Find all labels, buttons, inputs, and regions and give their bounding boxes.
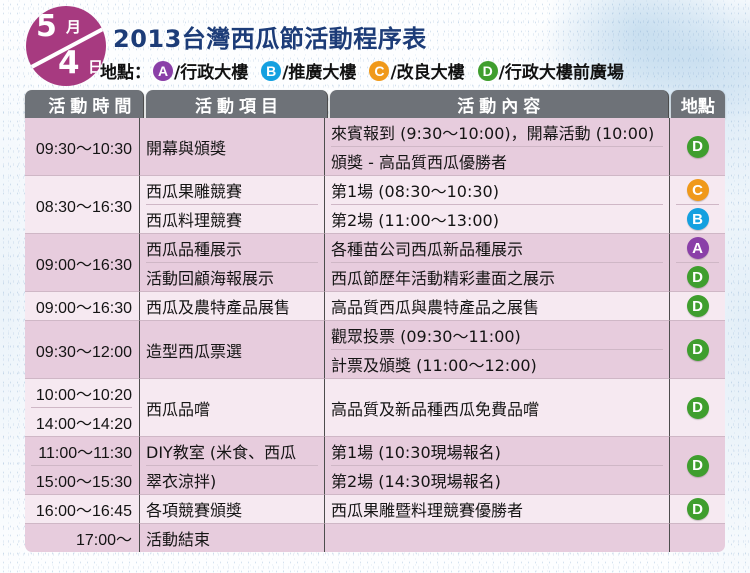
legend-badge-b-icon: B [261, 61, 281, 81]
cell-location-line: C [676, 176, 719, 205]
cell-location: D [670, 321, 725, 379]
legend-text-d: /行政大樓前廣場 [499, 58, 624, 83]
cell-item-line: 西瓜果雕競賽 [146, 176, 318, 205]
table-row: 09:00～16:30西瓜品種展示活動回顧海報展示各種苗公司西瓜新品種展示西瓜節… [25, 234, 725, 292]
cell-location: CB [670, 176, 725, 234]
cell-content-line: 各種苗公司西瓜新品種展示 [331, 234, 663, 263]
cell-content-line: 觀眾投票 (09:30～11:00) [331, 321, 663, 350]
cell-item: 西瓜果雕競賽西瓜料理競賽 [140, 176, 325, 234]
table-row: 16:00～16:45各項競賽頒獎西瓜果雕暨料理競賽優勝者D [25, 495, 725, 524]
venue-badge-d-icon: D [687, 455, 709, 477]
venue-badge-c-icon: C [687, 179, 709, 201]
cell-location: D [670, 292, 725, 321]
legend-text-a: /行政大樓 [174, 58, 248, 83]
cell-time-line: 11:00～11:30 [31, 437, 132, 466]
venue-badge-d-icon: D [687, 339, 709, 361]
column-header-content: 活動內容 [330, 90, 669, 118]
cell-item-lines: 西瓜果雕競賽西瓜料理競賽 [146, 176, 318, 233]
table-header-row: 活動時間 活動項目 活動內容 地點 [25, 90, 725, 118]
cell-item: 各項競賽頒獎 [140, 495, 325, 524]
cell-time-line: 10:00～10:20 [31, 379, 132, 408]
venue-legend: 地點： A /行政大樓 B /推廣大樓 C /改良大樓 D /行政大樓前廣場 [100, 58, 637, 83]
table-row: 17:00～活動結束 [25, 524, 725, 552]
table-row: 09:30～10:30開幕與頒獎來賓報到 (9:30～10:00)，開幕活動 (… [25, 118, 725, 176]
venue-legend-label: 地點： [100, 58, 151, 83]
legend-text-c: /改良大樓 [390, 58, 464, 83]
cell-content: 第1場 (08:30～10:30)第2場 (11:00～13:00) [325, 176, 670, 234]
venue-badge-d-icon: D [687, 397, 709, 419]
cell-content-line: 第1場 (10:30現場報名) [331, 437, 663, 466]
legend-item-a: A /行政大樓 [153, 58, 248, 83]
cell-time-line: 14:00～14:20 [31, 408, 132, 436]
cell-item: 西瓜及農特產品展售 [140, 292, 325, 321]
cell-time-lines: 11:00～11:3015:00～15:30 [31, 437, 132, 494]
legend-badge-c-icon: C [369, 61, 389, 81]
page-title: 2013台灣西瓜節活動程序表 [113, 19, 427, 54]
cell-time: 09:00～16:30 [25, 292, 140, 321]
cell-item-line: 活動回顧海報展示 [146, 263, 318, 291]
legend-text-b: /推廣大樓 [282, 58, 356, 83]
column-header-item: 活動項目 [146, 90, 327, 118]
cell-item-line: 西瓜料理競賽 [146, 205, 318, 233]
cell-time: 09:30～12:00 [25, 321, 140, 379]
cell-content: 來賓報到 (9:30～10:00)，開幕活動 (10:00)頒獎 - 高品質西瓜… [325, 118, 670, 176]
cell-location: D [670, 437, 725, 495]
venue-badge-b-icon: B [687, 208, 709, 230]
cell-content-lines: 第1場 (10:30現場報名)第2場 (14:30現場報名) [331, 437, 663, 494]
cell-time-line: 15:00～15:30 [31, 466, 132, 494]
page-header: 5 月 4 日 2013台灣西瓜節活動程序表 地點： A /行政大樓 B /推廣… [0, 0, 750, 90]
cell-time-lines: 10:00～10:2014:00～14:20 [31, 379, 132, 436]
cell-location: D [670, 118, 725, 176]
table-row: 09:30～12:00造型西瓜票選觀眾投票 (09:30～11:00)計票及頒獎… [25, 321, 725, 379]
date-badge: 5 月 4 日 [26, 6, 106, 86]
table-body: 09:30～10:30開幕與頒獎來賓報到 (9:30～10:00)，開幕活動 (… [25, 118, 725, 552]
cell-content-line: 第1場 (08:30～10:30) [331, 176, 663, 205]
cell-content-lines: 觀眾投票 (09:30～11:00)計票及頒獎 (11:00～12:00) [331, 321, 663, 378]
cell-location-line: D [676, 263, 719, 291]
column-header-location: 地點 [671, 90, 725, 118]
cell-item: DIY教室 (米食、西瓜翠衣涼拌) [140, 437, 325, 495]
cell-location: AD [670, 234, 725, 292]
cell-content-line: 頒獎 - 高品質西瓜優勝者 [331, 147, 663, 175]
legend-badge-a-icon: A [153, 61, 173, 81]
venue-badge-a-icon: A [687, 237, 709, 259]
cell-item-line: 翠衣涼拌) [146, 466, 318, 494]
venue-badge-d-icon: D [687, 498, 709, 520]
cell-content-lines: 各種苗公司西瓜新品種展示西瓜節歷年活動精彩畫面之展示 [331, 234, 663, 291]
venue-badge-d-icon: D [687, 266, 709, 288]
date-month-number: 5 [36, 12, 57, 42]
cell-content: 第1場 (10:30現場報名)第2場 (14:30現場報名) [325, 437, 670, 495]
cell-content: 高品質西瓜與農特產品之展售 [325, 292, 670, 321]
cell-item: 西瓜品種展示活動回顧海報展示 [140, 234, 325, 292]
legend-item-d: D /行政大樓前廣場 [478, 58, 624, 83]
cell-item: 西瓜品嚐 [140, 379, 325, 437]
cell-content-lines: 第1場 (08:30～10:30)第2場 (11:00～13:00) [331, 176, 663, 233]
cell-item-line: DIY教室 (米食、西瓜 [146, 437, 318, 466]
cell-time: 09:00～16:30 [25, 234, 140, 292]
table-row: 09:00～16:30西瓜及農特產品展售高品質西瓜與農特產品之展售D [25, 292, 725, 321]
date-day-number: 4 [58, 48, 80, 79]
cell-content: 觀眾投票 (09:30～11:00)計票及頒獎 (11:00～12:00) [325, 321, 670, 379]
legend-item-b: B /推廣大樓 [261, 58, 356, 83]
cell-time: 11:00～11:3015:00～15:30 [25, 437, 140, 495]
column-header-time: 活動時間 [25, 90, 144, 118]
cell-location-lines: CB [676, 176, 719, 233]
table-row: 11:00～11:3015:00～15:30DIY教室 (米食、西瓜翠衣涼拌)第… [25, 437, 725, 495]
venue-badge-d-icon: D [687, 295, 709, 317]
cell-location-line: B [676, 205, 719, 233]
legend-item-c: C /改良大樓 [369, 58, 464, 83]
cell-content-line: 計票及頒獎 (11:00～12:00) [331, 350, 663, 378]
cell-time: 09:30～10:30 [25, 118, 140, 176]
cell-content-line: 第2場 (14:30現場報名) [331, 466, 663, 494]
table-row: 08:30～16:30西瓜果雕競賽西瓜料理競賽第1場 (08:30～10:30)… [25, 176, 725, 234]
cell-content: 高品質及新品種西瓜免費品嚐 [325, 379, 670, 437]
cell-content-line: 第2場 (11:00～13:00) [331, 205, 663, 233]
cell-item: 活動結束 [140, 524, 325, 552]
cell-location: D [670, 495, 725, 524]
cell-item: 造型西瓜票選 [140, 321, 325, 379]
cell-location [670, 524, 725, 552]
cell-item-lines: DIY教室 (米食、西瓜翠衣涼拌) [146, 437, 318, 494]
cell-time: 10:00～10:2014:00～14:20 [25, 379, 140, 437]
cell-content: 西瓜果雕暨料理競賽優勝者 [325, 495, 670, 524]
cell-time: 08:30～16:30 [25, 176, 140, 234]
cell-location: D [670, 379, 725, 437]
legend-badge-d-icon: D [478, 61, 498, 81]
cell-item-lines: 西瓜品種展示活動回顧海報展示 [146, 234, 318, 291]
date-month-unit: 月 [66, 20, 81, 35]
cell-time: 17:00～ [25, 524, 140, 552]
cell-content-lines: 來賓報到 (9:30～10:00)，開幕活動 (10:00)頒獎 - 高品質西瓜… [331, 118, 663, 175]
cell-content: 各種苗公司西瓜新品種展示西瓜節歷年活動精彩畫面之展示 [325, 234, 670, 292]
cell-location-line: A [676, 234, 719, 263]
table-row: 10:00～10:2014:00～14:20西瓜品嚐高品質及新品種西瓜免費品嚐D [25, 379, 725, 437]
cell-time: 16:00～16:45 [25, 495, 140, 524]
cell-content-line: 來賓報到 (9:30～10:00)，開幕活動 (10:00) [331, 118, 663, 147]
cell-location-lines: AD [676, 234, 719, 291]
schedule-table: 活動時間 活動項目 活動內容 地點 09:30～10:30開幕與頒獎來賓報到 (… [25, 90, 725, 552]
cell-item: 開幕與頒獎 [140, 118, 325, 176]
cell-content-line: 西瓜節歷年活動精彩畫面之展示 [331, 263, 663, 291]
cell-item-line: 西瓜品種展示 [146, 234, 318, 263]
cell-content [325, 524, 670, 552]
venue-badge-d-icon: D [687, 136, 709, 158]
